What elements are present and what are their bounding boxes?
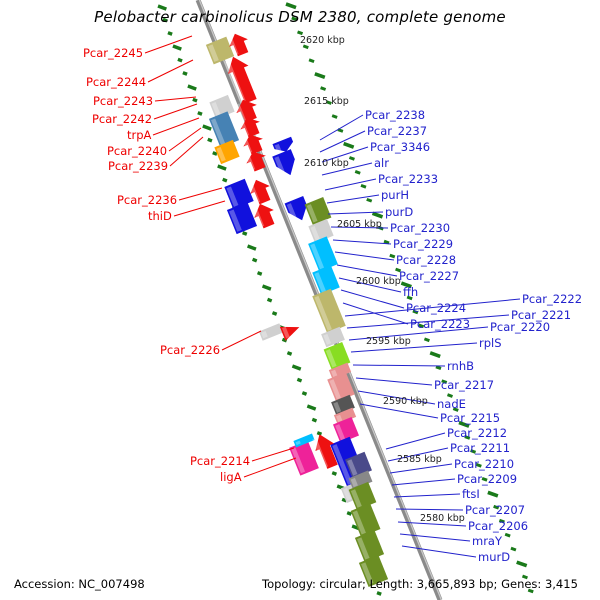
tick-minor [321,88,326,90]
gene-label-pcar_2227[interactable]: Pcar_2227 [399,270,459,282]
gene-label-rpls[interactable]: rplS [479,337,502,349]
tick-label: 2585 kbp [397,454,442,466]
label-leader-line [170,137,203,166]
accession-text: Accession: NC_007498 [14,577,145,591]
gene-label-pcar_2223[interactable]: Pcar_2223 [410,318,470,330]
gene-label-pcar_2230[interactable]: Pcar_2230 [390,222,450,234]
tick-major [344,144,354,148]
label-leader-line [179,188,222,200]
tick-minor [384,241,389,243]
gene-label-purd[interactable]: purD [385,206,413,218]
gc-dot [188,86,196,89]
label-leader-line [386,433,445,449]
gene-glyph[interactable] [351,503,381,537]
gene-glyph[interactable] [355,530,384,562]
gc-dot [258,273,262,275]
gene-label-alr[interactable]: alr [374,157,389,169]
gc-dot [272,313,276,315]
label-leader-line [320,131,365,152]
gene-label-pcar_2243[interactable]: Pcar_2243 [93,95,153,107]
gene-glyph[interactable] [214,140,239,164]
gene-label-pcar_3346[interactable]: Pcar_3346 [370,141,430,153]
gene-glyph[interactable] [272,149,300,179]
gc-dot [332,473,336,475]
gene-glyph[interactable] [259,323,283,341]
gc-dot [178,59,182,61]
gene-glyph[interactable] [308,236,338,271]
gene-glyph[interactable] [224,179,253,209]
gc-dot [317,433,321,435]
gc-dot [263,286,271,289]
tick-major [430,353,440,357]
label-leader-line [333,240,391,244]
gene-glyph[interactable] [227,202,257,234]
tick-minor [361,185,366,187]
gene-label-pcar_2242[interactable]: Pcar_2242 [92,113,152,125]
tick-minor [505,534,510,536]
gene-label-pcar_2215[interactable]: Pcar_2215 [440,412,500,424]
gc-dot [307,406,315,409]
gc-dot [208,139,212,141]
gene-label-pcar_2214[interactable]: Pcar_2214 [190,455,250,467]
gene-box[interactable] [224,179,253,209]
genome-map-canvas[interactable]: Pelobacter carbinolicus DSM 2380, comple… [0,0,600,600]
label-leader-line [337,265,397,276]
label-leader-line [154,104,197,119]
label-leader-line [252,448,294,461]
label-leader-line [244,458,296,477]
gc-dot [243,233,247,235]
gene-label-pcar_2240[interactable]: Pcar_2240 [107,145,167,157]
gene-label-pcar_2245[interactable]: Pcar_2245 [83,47,143,59]
gc-dot [302,393,306,395]
label-leader-line [153,118,199,135]
label-leader-line [155,97,196,101]
gene-label-thid[interactable]: thiD [148,210,172,222]
label-leader-line [145,36,192,53]
gene-label-pcar_2224[interactable]: Pcar_2224 [406,302,466,314]
label-leader-line [402,546,476,557]
gene-box[interactable] [259,323,283,341]
gc-dot [158,6,166,9]
gene-label-pcar_2212[interactable]: Pcar_2212 [447,427,507,439]
tick-minor [436,367,441,369]
gene-label-pcar_2244[interactable]: Pcar_2244 [86,76,146,88]
gene-label-pcar_2217[interactable]: Pcar_2217 [434,379,494,391]
tick-label: 2595 kbp [366,336,411,348]
tick-major [315,74,325,78]
gc-dot [168,33,172,35]
gc-dot [213,153,217,155]
gene-label-pcar_2239[interactable]: Pcar_2239 [108,160,168,172]
gc-dot [268,299,272,301]
label-leader-line [320,115,363,140]
tick-minor [424,339,429,341]
tick-label: 2580 kbp [420,513,465,525]
gene-label-pcar_2233[interactable]: Pcar_2233 [378,173,438,185]
tick-minor [390,255,395,257]
gene-label-pcar_2236[interactable]: Pcar_2236 [117,194,177,206]
label-leader-line [174,201,225,216]
gc-dot [218,166,226,169]
label-leader-line [400,534,470,541]
gene-label-ftsi[interactable]: ftsI [462,488,480,500]
status-bar: Accession: NC_007498 Topology: circular;… [0,566,600,600]
gene-label-trpa[interactable]: trpA [127,129,151,141]
tick-label: 2615 kbp [304,96,349,108]
gc-dot [183,73,187,75]
tick-minor [309,60,314,62]
tick-major [373,213,383,217]
gene-label-pcar_2226[interactable]: Pcar_2226 [160,344,220,356]
tick-major [286,4,296,8]
gene-label-pcar_2220[interactable]: Pcar_2220 [490,321,550,333]
tick-minor [292,18,297,20]
tick-label: 2620 kbp [300,35,345,47]
tick-label: 2610 kbp [304,158,349,170]
label-leader-line [394,494,460,497]
gc-dot [173,46,181,49]
tick-label: 2590 kbp [383,396,428,408]
gc-dot [163,19,167,21]
gene-box[interactable] [227,202,257,234]
label-leader-line [353,365,445,366]
gene-glyph[interactable] [209,111,239,147]
gene-label-rnhb[interactable]: rnhB [447,360,474,372]
gene-label-pcar_2229[interactable]: Pcar_2229 [393,238,453,250]
label-leader-line [335,252,394,260]
tick-minor [349,157,354,159]
gene-glyph[interactable] [289,440,319,475]
tick-minor [511,548,516,550]
gc-dot [198,113,202,115]
gene-label-mray[interactable]: mraY [472,535,502,547]
gene-glyph[interactable] [280,320,302,341]
tick-major [488,492,498,496]
gc-dot [297,379,301,381]
gene-glyph[interactable] [312,289,346,334]
gene-label-pcar_2237[interactable]: Pcar_2237 [367,125,427,137]
label-leader-line [356,378,432,385]
gc-dot [347,513,351,515]
tick-label: 2605 kbp [337,219,382,231]
label-leader-line [222,331,261,350]
genome-meta-text: Topology: circular; Length: 3,665,893 bp… [262,577,578,591]
label-leader-line [392,479,455,485]
tick-minor [338,130,343,132]
label-leader-line [169,128,201,151]
tick-label: 2600 kbp [356,276,401,288]
gene-label-murd[interactable]: murD [478,551,510,563]
gene-label-pcar_2209[interactable]: Pcar_2209 [457,473,517,485]
tick-minor [298,32,303,34]
gc-dot [223,179,227,181]
gc-dot [193,99,197,101]
gene-label-pcar_2238[interactable]: Pcar_2238 [365,109,425,121]
gene-box[interactable] [355,530,384,562]
gc-dot [292,366,300,369]
gene-label-pcar_2211[interactable]: Pcar_2211 [450,442,510,454]
gene-label-liga[interactable]: ligA [220,471,242,483]
tick-minor [367,199,372,201]
tick-minor [332,116,337,118]
gene-label-pcar_2222[interactable]: Pcar_2222 [522,293,582,305]
label-leader-line [148,60,193,82]
label-leader-line [325,179,376,190]
gene-label-pcar_2206[interactable]: Pcar_2206 [468,520,528,532]
gc-dot [287,353,291,355]
tick-minor [355,171,360,173]
gene-label-nade[interactable]: nadE [437,398,466,410]
gc-dot [253,259,257,261]
gene-label-pcar_2207[interactable]: Pcar_2207 [465,504,525,516]
gene-label-pcar_2210[interactable]: Pcar_2210 [454,458,514,470]
gc-dot [312,419,316,421]
gc-dot [248,246,256,249]
gene-arrow-reverse[interactable] [272,149,300,179]
gene-label-pcar_2228[interactable]: Pcar_2228 [396,254,456,266]
gc-dot [203,126,211,129]
gene-label-ffh[interactable]: ffh [403,286,418,298]
gene-label-purh[interactable]: purH [381,189,409,201]
